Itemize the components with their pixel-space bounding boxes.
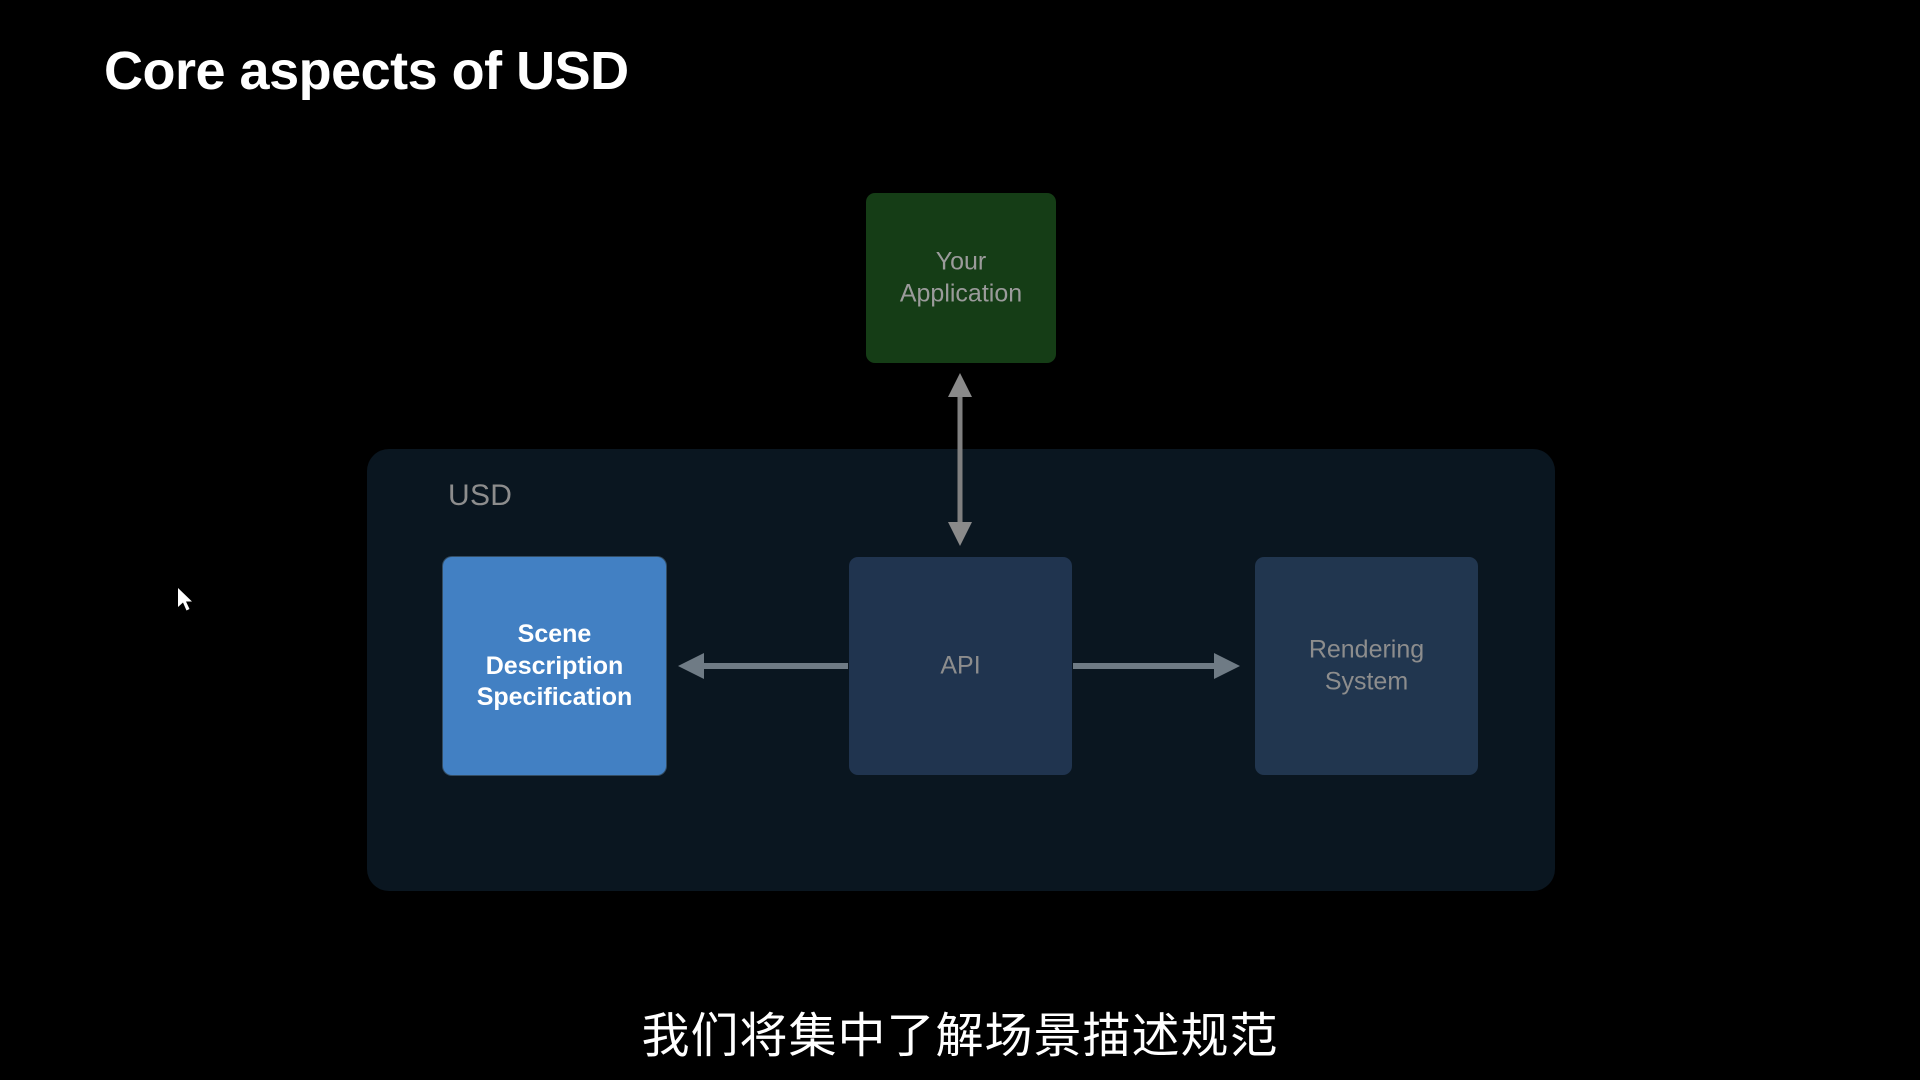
node-label-line: Application [866, 278, 1056, 310]
usd-architecture-diagram: Your Application USD Scene Description S… [0, 0, 1920, 1080]
node-rendering-system[interactable]: Rendering System [1255, 557, 1478, 775]
node-scene-description-specification[interactable]: Scene Description Specification [443, 557, 666, 775]
node-label-line: Scene [443, 619, 666, 651]
usd-container-label: USD [448, 479, 512, 513]
node-api-label: API [849, 650, 1072, 682]
node-label-line: Specification [443, 682, 666, 714]
node-label-line: Description [443, 650, 666, 682]
node-label-line: Your [866, 247, 1056, 279]
node-label-line: Rendering [1255, 635, 1478, 667]
node-api[interactable]: API [849, 557, 1072, 775]
node-your-application[interactable]: Your Application [866, 193, 1056, 363]
mouse-cursor-icon [178, 588, 196, 614]
node-your-application-label: Your Application [866, 247, 1056, 310]
node-rendering-system-label: Rendering System [1255, 635, 1478, 698]
node-label-line: API [849, 650, 1072, 682]
slide-canvas: Core aspects of USD Your Application USD… [0, 0, 1920, 1080]
subtitle-caption: 我们将集中了解场景描述规范 [0, 1010, 1920, 1063]
node-label-line: System [1255, 666, 1478, 698]
node-scene-description-specification-label: Scene Description Specification [443, 619, 666, 714]
